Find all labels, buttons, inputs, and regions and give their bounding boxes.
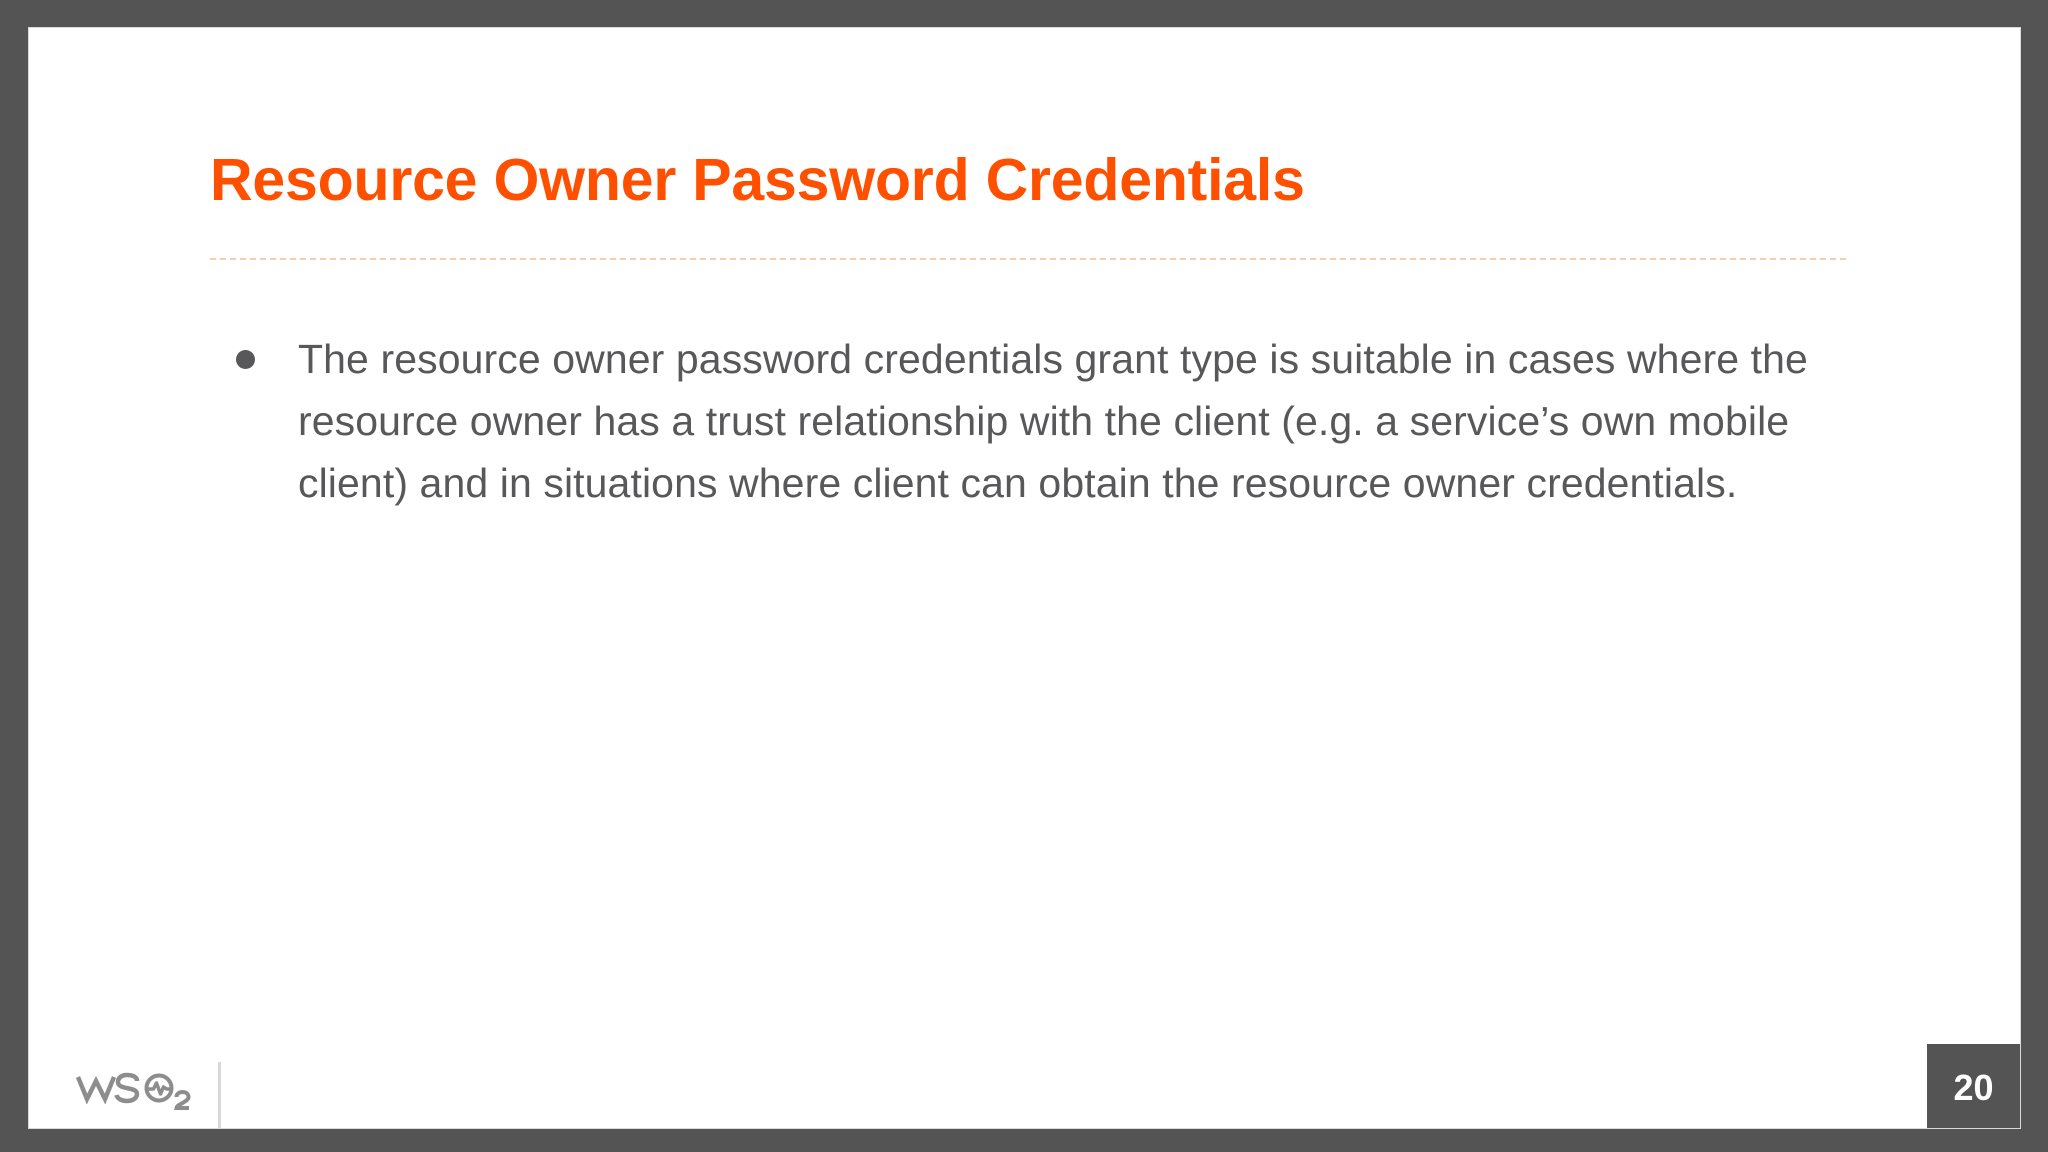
title-divider xyxy=(210,258,1846,260)
presentation-frame: Resource Owner Password Credentials The … xyxy=(0,0,2048,1152)
wso2-logo xyxy=(75,1064,199,1110)
footer-divider xyxy=(218,1062,221,1128)
page-number-badge: 20 xyxy=(1927,1044,2020,1128)
list-item: The resource owner password credentials … xyxy=(210,328,1850,514)
list-item-text: The resource owner password credentials … xyxy=(298,328,1850,514)
slide-canvas: Resource Owner Password Credentials The … xyxy=(29,28,2020,1128)
slide-title: Resource Owner Password Credentials xyxy=(210,150,1910,212)
bullet-point-icon xyxy=(236,350,255,369)
slide-body: The resource owner password credentials … xyxy=(210,328,1850,514)
